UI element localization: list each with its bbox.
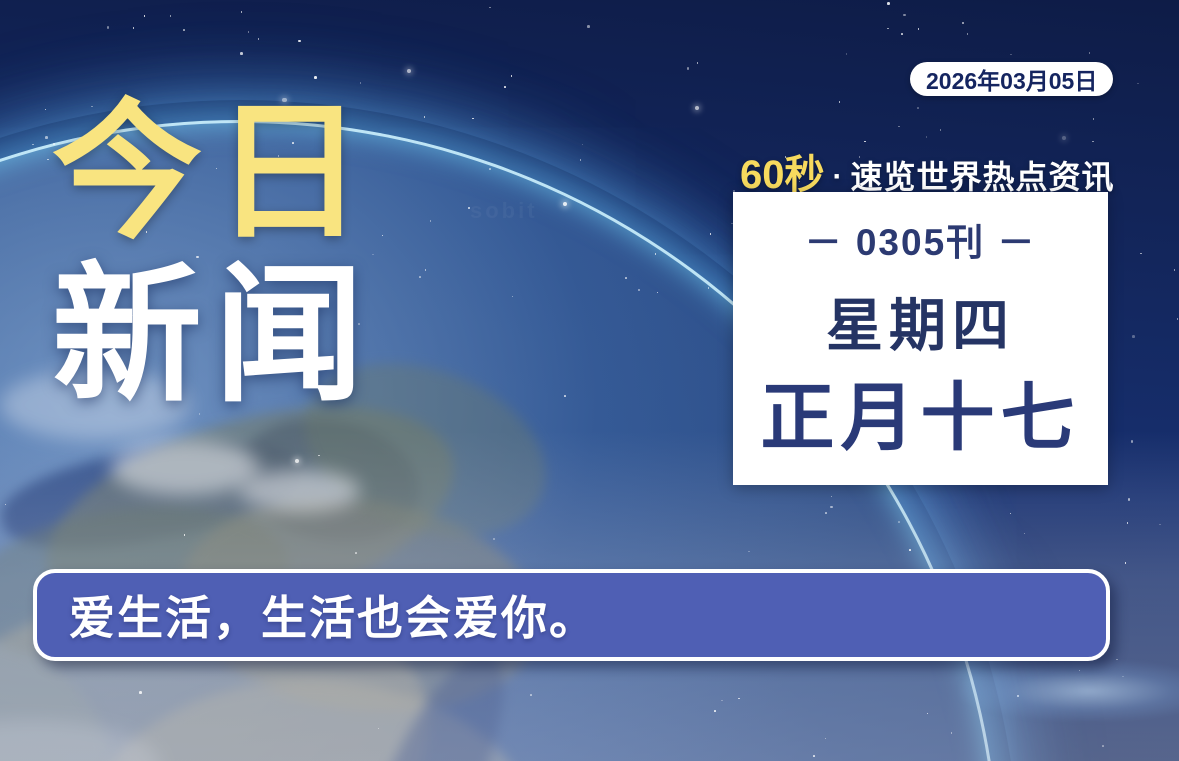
quote-banner: 爱生活，生活也会爱你。	[33, 569, 1110, 661]
earth-cloud	[110, 440, 260, 495]
page-title: 今日 新闻	[52, 96, 472, 414]
news-poster: sobit 今日 新闻 2026年03月05日 60秒 · 速览世界热点资讯 －…	[0, 0, 1179, 761]
tagline-separator-dot: ·	[833, 160, 843, 194]
earth-cloud	[240, 470, 360, 512]
weekday-label: 星期四	[826, 280, 1015, 362]
quote-text: 爱生活，生活也会爱你。	[69, 582, 597, 648]
lunar-date-label: 正月十七	[761, 376, 1081, 460]
headline-line-today: 今日	[52, 96, 472, 248]
issue-number: － 0305刊 －	[805, 212, 1037, 266]
date-info-card: － 0305刊 － 星期四 正月十七	[733, 192, 1108, 485]
headline-line-news: 新闻	[52, 256, 472, 414]
date-badge: 2026年03月05日	[910, 62, 1113, 96]
